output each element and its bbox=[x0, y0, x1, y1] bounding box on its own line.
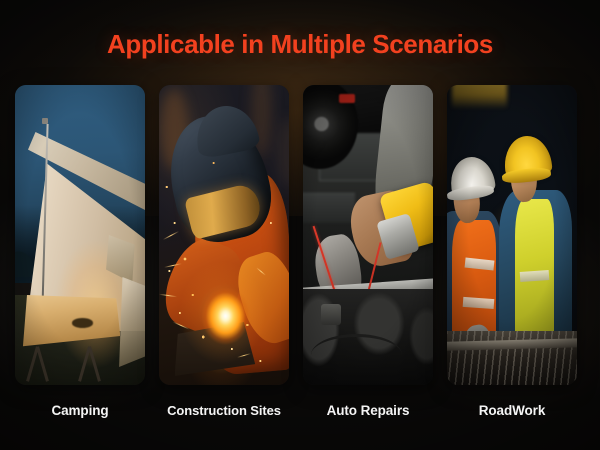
roadwork-image bbox=[447, 85, 577, 385]
camping-vignette bbox=[15, 85, 145, 385]
scenario-card-construction-sites[interactable] bbox=[159, 85, 289, 385]
auto-repair-image bbox=[303, 85, 433, 385]
scenario-label-row: Camping Construction Sites Auto Repairs … bbox=[15, 399, 585, 423]
page-title: Applicable in Multiple Scenarios bbox=[0, 29, 600, 60]
scenario-label-construction-sites: Construction Sites bbox=[159, 399, 289, 423]
welding-image bbox=[159, 85, 289, 385]
promo-banner: Applicable in Multiple Scenarios bbox=[0, 0, 600, 450]
scenario-card-auto-repairs[interactable] bbox=[303, 85, 433, 385]
roadwork-vignette bbox=[447, 85, 577, 385]
scenario-card-row bbox=[15, 85, 585, 385]
scenario-card-camping[interactable] bbox=[15, 85, 145, 385]
scenario-label-camping: Camping bbox=[15, 399, 145, 423]
scenario-card-roadwork[interactable] bbox=[447, 85, 577, 385]
spark-particles bbox=[159, 85, 289, 385]
camping-image bbox=[15, 85, 145, 385]
scenario-label-roadwork: RoadWork bbox=[447, 399, 577, 423]
auto-vignette bbox=[303, 85, 433, 385]
scenario-label-auto-repairs: Auto Repairs bbox=[303, 399, 433, 423]
